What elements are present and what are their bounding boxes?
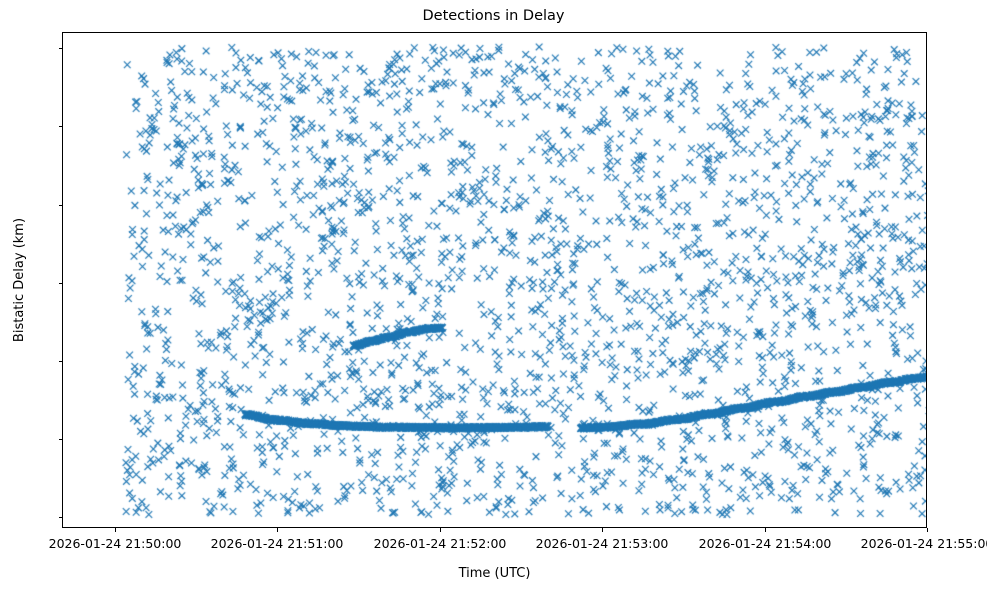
y-axis-label-wrapper: Bistatic Delay (km) (12, 32, 30, 528)
x-tick-label: 2026-01-24 21:50:00 (49, 536, 182, 551)
x-tick-mark (927, 528, 928, 532)
x-tick-mark (765, 528, 766, 532)
x-tick-mark (440, 528, 441, 532)
x-tick-mark (602, 528, 603, 532)
x-tick-label: 2026-01-24 21:52:00 (374, 536, 507, 551)
x-axis-ticks: 2026-01-24 21:50:002026-01-24 21:51:0020… (0, 0, 987, 590)
x-tick-label: 2026-01-24 21:51:00 (211, 536, 344, 551)
x-tick-mark (277, 528, 278, 532)
x-tick-label: 2026-01-24 21:55:00 (861, 536, 987, 551)
y-axis-label: Bistatic Delay (km) (12, 32, 27, 528)
matplotlib-figure: Detections in Delay 0102030405060 2026-0… (0, 0, 987, 590)
x-axis-label: Time (UTC) (62, 566, 927, 581)
x-tick-label: 2026-01-24 21:54:00 (699, 536, 832, 551)
x-tick-label: 2026-01-24 21:53:00 (536, 536, 669, 551)
x-tick-mark (115, 528, 116, 532)
